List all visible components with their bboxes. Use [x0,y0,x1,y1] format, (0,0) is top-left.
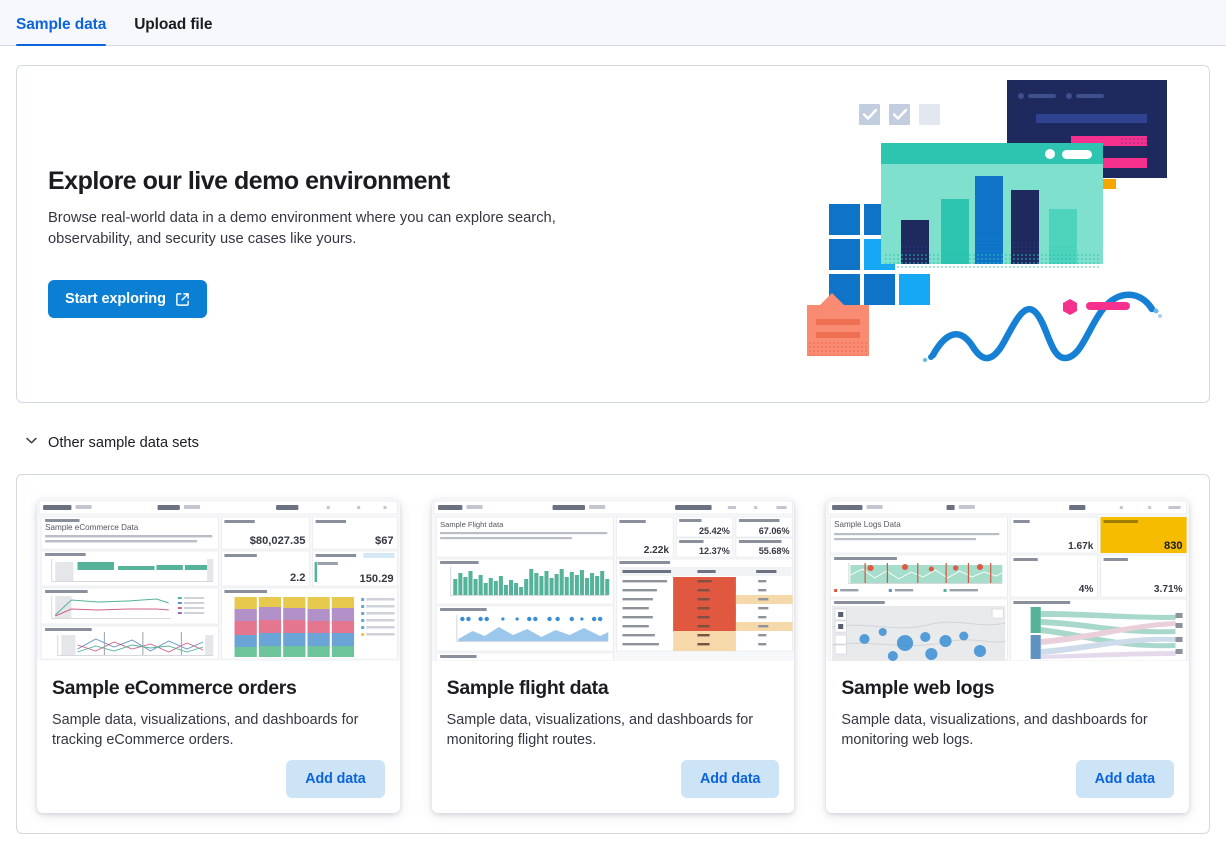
svg-text:$67: $67 [375,535,394,547]
sample-data-card-ecommerce[interactable]: Sample eCommerce Data $80,027.35 $67 [37,499,400,813]
card-body: Sample web logs Sample data, visualizati… [826,661,1189,760]
sample-data-card-weblogs[interactable]: Sample Logs Data 1.67k 830 [826,499,1189,813]
ecommerce-thumbnail: Sample eCommerce Data $80,027.35 $67 [37,499,400,661]
card-description: Sample data, visualizations, and dashboa… [52,710,385,750]
svg-text:55.68%: 55.68% [758,546,789,556]
start-exploring-button[interactable]: Start exploring [48,280,207,318]
svg-text:12.37%: 12.37% [699,546,730,556]
card-description: Sample data, visualizations, and dashboa… [841,710,1174,750]
svg-text:25.42%: 25.42% [699,526,730,536]
hero-text-block: Explore our live demo environment Browse… [48,166,608,318]
illustration-checkbox-row [859,104,940,125]
hero-description: Browse real-world data in a demo environ… [48,208,573,250]
card-footer: Add data [432,760,795,813]
tab-upload-file[interactable]: Upload file [134,16,212,45]
card-body: Sample flight data Sample data, visualiz… [432,661,795,760]
other-sample-data-sets-toggle[interactable]: Other sample data sets [16,429,199,457]
svg-text:2.2: 2.2 [290,572,305,584]
add-data-button-ecommerce[interactable]: Add data [286,760,384,798]
svg-text:67.06%: 67.06% [758,526,789,536]
card-title: Sample eCommerce orders [52,677,385,701]
card-title: Sample flight data [447,677,780,701]
card-title: Sample web logs [841,677,1174,701]
page-content: Explore our live demo environment Browse… [0,65,1226,834]
card-body: Sample eCommerce orders Sample data, vis… [37,661,400,760]
demo-environment-panel: Explore our live demo environment Browse… [16,65,1210,403]
start-exploring-label: Start exploring [65,291,166,307]
svg-text:Sample Flight data: Sample Flight data [440,520,504,529]
svg-text:3.71%: 3.71% [1154,584,1183,595]
card-description: Sample data, visualizations, and dashboa… [447,710,780,750]
demo-environment-illustration [785,66,1185,403]
flight-thumbnail: Sample Flight data 2.22k 25.42% 67.06% [432,499,795,661]
tab-sample-data[interactable]: Sample data [16,16,106,45]
svg-text:4%: 4% [1079,584,1094,595]
sample-data-cards-panel: Sample eCommerce Data $80,027.35 $67 [16,474,1210,834]
page-title: Explore our live demo environment [48,166,608,196]
chevron-down-icon [24,433,39,453]
card-footer: Add data [37,760,400,813]
svg-text:Sample Logs Data: Sample Logs Data [834,520,901,529]
add-data-button-weblogs[interactable]: Add data [1076,760,1174,798]
svg-text:150.29: 150.29 [360,573,394,585]
svg-text:$80,027.35: $80,027.35 [250,535,306,547]
svg-text:830: 830 [1164,540,1183,552]
illustration-chart-window [881,143,1103,268]
weblogs-thumbnail: Sample Logs Data 1.67k 830 [826,499,1189,661]
tab-sample-data-label: Sample data [16,16,106,33]
sample-data-card-flight[interactable]: Sample Flight data 2.22k 25.42% 67.06% [432,499,795,813]
card-footer: Add data [826,760,1189,813]
tab-bar: Sample data Upload file [0,0,1226,46]
external-link-icon [175,292,190,307]
svg-text:1.67k: 1.67k [1068,541,1094,552]
svg-text:Sample eCommerce Data: Sample eCommerce Data [45,523,139,532]
svg-text:2.22k: 2.22k [643,545,669,556]
other-sample-data-sets-label: Other sample data sets [48,435,199,451]
illustration-wave-line [923,295,1162,362]
add-data-button-flight[interactable]: Add data [681,760,779,798]
tab-upload-file-label: Upload file [134,16,212,33]
